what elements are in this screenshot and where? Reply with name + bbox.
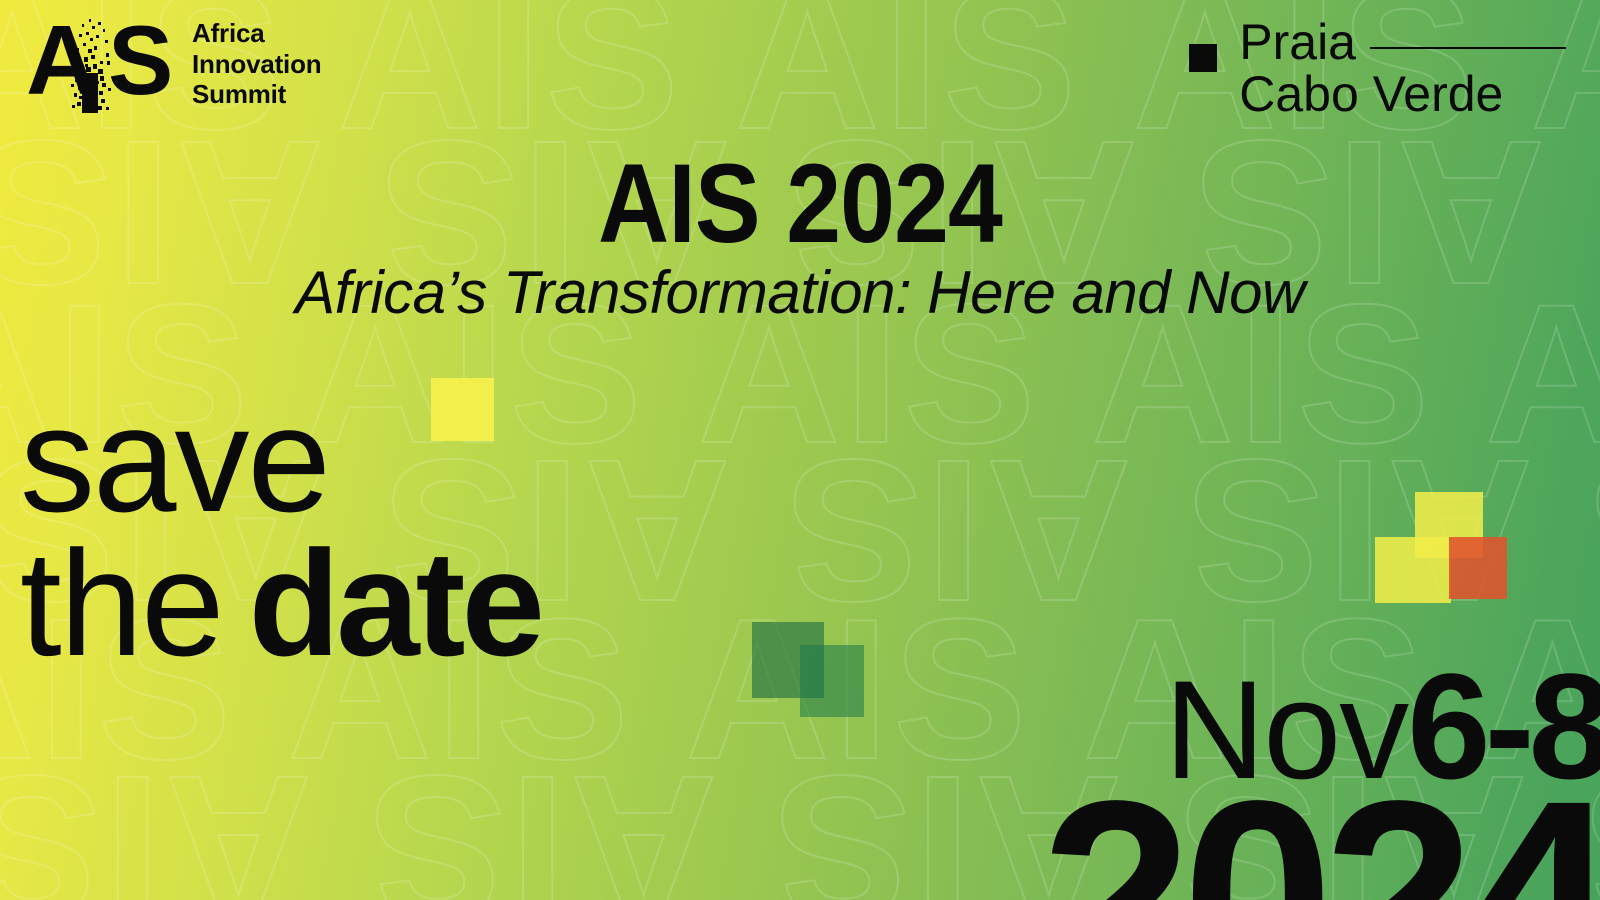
- location-city: Praia: [1239, 16, 1356, 68]
- event-date-block: Nov 6-8 2024: [1041, 657, 1600, 900]
- location-country: Cabo Verde: [1239, 68, 1566, 120]
- save-the-date-line-1: save: [20, 390, 541, 530]
- accent-square-yellow-date-lower: [1375, 537, 1451, 603]
- location-text: Praia Cabo Verde: [1239, 16, 1566, 120]
- word-the: the: [20, 534, 223, 674]
- ais-logo[interactable]: A: [26, 14, 321, 110]
- logo-wordmark-line-1: Africa: [192, 18, 321, 49]
- ais-logo-mark: A: [26, 15, 174, 110]
- page-title: AIS 2024: [96, 148, 1504, 260]
- word-save: save: [20, 390, 329, 530]
- save-the-date-line-2: the date: [20, 534, 541, 674]
- location-rule: [1370, 47, 1566, 49]
- accent-square-orange-date: [1449, 537, 1507, 599]
- logo-wordmark: Africa Innovation Summit: [192, 14, 321, 110]
- page-subtitle: Africa’s Transformation: Here and Now: [0, 263, 1600, 323]
- logo-wordmark-line-2: Innovation: [192, 49, 321, 80]
- word-date: date: [249, 534, 541, 674]
- event-year: 2024: [1041, 785, 1600, 900]
- logo-wordmark-line-3: Summit: [192, 79, 321, 110]
- accent-square-green-mid: [800, 645, 864, 717]
- location-city-row: Praia: [1239, 16, 1566, 68]
- logo-letter-s: S: [108, 11, 173, 109]
- save-the-date-headline: save the date: [20, 390, 541, 673]
- location-bullet-square-icon: [1189, 44, 1217, 72]
- save-the-date-poster: AIS AIS AIS AIS AIS AIS AIS AIS AIS AIS …: [0, 0, 1600, 900]
- event-location: Praia Cabo Verde: [1189, 16, 1566, 120]
